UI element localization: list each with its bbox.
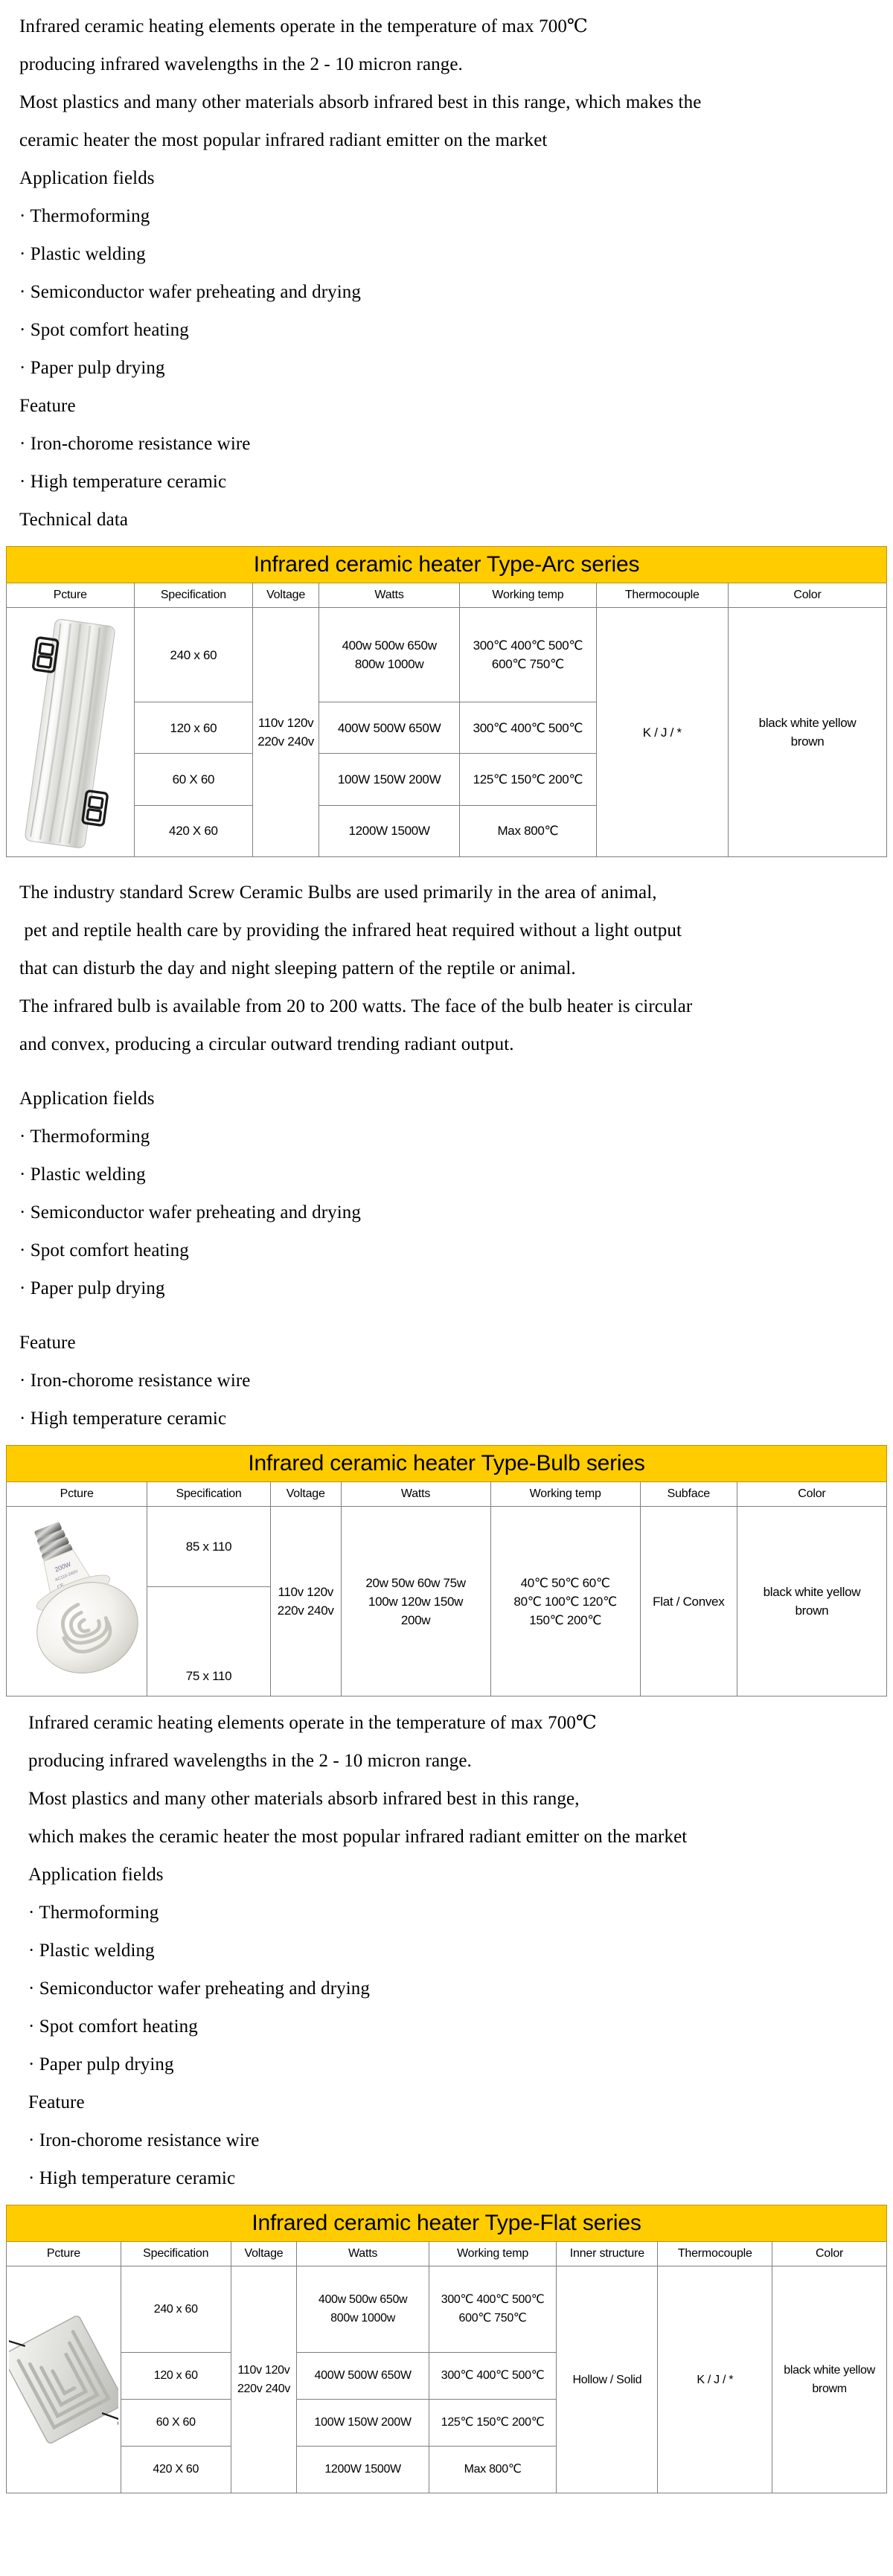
- watts-value: 20w 50w 60w 75w 100w 120w 150w 200w: [341, 1507, 490, 1696]
- paragraph-line: which makes the ceramic heater the most …: [28, 1818, 874, 1856]
- paragraph-line: Infrared ceramic heating elements operat…: [28, 1704, 874, 1742]
- table-bulb: Infrared ceramic heater Type-Bulb series…: [6, 1445, 887, 1696]
- color-value: black white yellow brown: [737, 1507, 886, 1696]
- bulb-heater-picture-cell: 200W AC110-240V CE: [7, 1507, 147, 1696]
- application-item: · Spot comfort heating: [19, 1231, 874, 1269]
- color-value: black white yellow browm: [772, 2266, 887, 2493]
- flat-ceramic-heater-photo: [9, 2268, 118, 2491]
- application-item: · Semiconductor wafer preheating and dry…: [19, 273, 874, 311]
- temp-line: 40℃ 50℃ 60℃: [521, 1576, 610, 1590]
- table-arc-wrapper: Infrared ceramic heater Type-Arc series …: [0, 546, 893, 857]
- spec-value: 85 x 110: [147, 1507, 271, 1587]
- spec-value: 60 X 60: [121, 2399, 231, 2446]
- table-flat-banner: Infrared ceramic heater Type-Flat series: [7, 2205, 887, 2242]
- application-item: · Thermoforming: [19, 1118, 874, 1156]
- table-row: 240 x 60 110v 120v 220v 240v 400w 500w 6…: [7, 608, 887, 702]
- spec-value: 240 x 60: [134, 608, 253, 702]
- table-flat-header-row: Pcture Specification Voltage Watts Worki…: [7, 2242, 887, 2266]
- working-temp-value: 125℃ 150℃ 200℃: [460, 754, 596, 805]
- column-header-voltage: Voltage: [270, 1482, 341, 1507]
- table-bulb-header-row: Pcture Specification Voltage Watts Worki…: [7, 1482, 887, 1507]
- table-arc: Infrared ceramic heater Type-Arc series …: [6, 546, 887, 857]
- column-header-thermocouple: Thermocouple: [658, 2242, 772, 2266]
- column-header-specification: Specification: [134, 583, 253, 608]
- watts-line: 200w: [401, 1613, 430, 1627]
- working-temp-value: 300℃ 400℃ 500℃: [429, 2352, 557, 2399]
- application-item: · Plastic welding: [28, 1932, 874, 1970]
- working-temp-value: 300℃ 400℃ 500℃: [460, 702, 596, 754]
- application-item: · Semiconductor wafer preheating and dry…: [28, 1970, 874, 2008]
- product-spec-page: Infrared ceramic heating elements operat…: [0, 0, 893, 2499]
- column-header-subface: Subface: [640, 1482, 737, 1507]
- paragraph-line: The infrared bulb is available from 20 t…: [19, 987, 874, 1025]
- column-header-pcture: Pcture: [7, 583, 135, 608]
- working-temp-value: 125℃ 150℃ 200℃: [429, 2399, 557, 2446]
- spec-value: 60 X 60: [134, 754, 253, 805]
- ceramic-bulb-heater-photo: 200W AC110-240V CE: [9, 1508, 144, 1694]
- table-bulb-banner: Infrared ceramic heater Type-Bulb series: [7, 1446, 887, 1482]
- feature-heading: Feature: [19, 1324, 874, 1362]
- watts-value: 400w 500w 650w 800w 1000w: [297, 2266, 429, 2353]
- paragraph-line: pet and reptile health care by providing…: [19, 911, 874, 949]
- application-item: · Paper pulp drying: [19, 349, 874, 387]
- watts-value: 400W 500W 650W: [319, 702, 459, 754]
- temp-line: 300℃ 400℃ 500℃: [473, 638, 583, 653]
- feature-item: · Iron-chorome resistance wire: [19, 1362, 874, 1400]
- working-temp-value: 40℃ 50℃ 60℃ 80℃ 100℃ 120℃ 150℃ 200℃: [490, 1507, 640, 1696]
- feature-item: · High temperature ceramic: [19, 1400, 874, 1438]
- temp-line: 150℃ 200℃: [529, 1613, 601, 1627]
- watts-line: 100w 120w 150w: [368, 1595, 463, 1609]
- table-arc-banner: Infrared ceramic heater Type-Arc series: [7, 547, 887, 583]
- application-item: · Plastic welding: [19, 235, 874, 273]
- column-header-inner-structure: Inner structure: [557, 2242, 658, 2266]
- application-item: · Spot comfort heating: [19, 311, 874, 349]
- watts-value: 100W 150W 200W: [319, 754, 459, 805]
- watts-value: 1200W 1500W: [319, 805, 459, 856]
- spec-value: 420 X 60: [134, 805, 253, 856]
- column-header-thermocouple: Thermocouple: [596, 583, 728, 608]
- working-temp-value: Max 800℃: [429, 2446, 557, 2493]
- column-header-color: Color: [772, 2242, 887, 2266]
- application-item: · Thermoforming: [19, 197, 874, 235]
- feature-item: · Iron-chorome resistance wire: [19, 425, 874, 463]
- watts-line: 20w 50w 60w 75w: [365, 1576, 465, 1590]
- table-flat-wrapper: Infrared ceramic heater Type-Flat series…: [0, 2205, 893, 2493]
- column-header-watts: Watts: [297, 2242, 429, 2266]
- feature-item: · Iron-chorome resistance wire: [28, 2121, 874, 2159]
- column-header-working-temp: Working temp: [490, 1482, 640, 1507]
- temp-line: 80℃ 100℃ 120℃: [513, 1595, 616, 1609]
- thermocouple-value: K / J / *: [596, 608, 728, 857]
- watts-value: 400W 500W 650W: [297, 2352, 429, 2399]
- application-item: · Semiconductor wafer preheating and dry…: [19, 1194, 874, 1231]
- spec-value: 240 x 60: [121, 2266, 231, 2353]
- working-temp-value: Max 800℃: [460, 805, 596, 856]
- application-fields-heading: Application fields: [19, 159, 874, 197]
- table-row: 200W AC110-240V CE: [7, 1507, 887, 1587]
- working-temp-value: 300℃ 400℃ 500℃ 600℃ 750℃: [429, 2266, 557, 2353]
- column-header-working-temp: Working temp: [429, 2242, 557, 2266]
- table-bulb-wrapper: Infrared ceramic heater Type-Bulb series…: [0, 1445, 893, 1696]
- feature-item: · High temperature ceramic: [19, 463, 874, 501]
- application-item: · Spot comfort heating: [28, 2008, 874, 2045]
- application-item: · Thermoforming: [28, 1894, 874, 1932]
- feature-heading: Feature: [28, 2083, 874, 2121]
- application-fields-heading: Application fields: [28, 1856, 874, 1894]
- temp-line: 600℃ 750℃: [459, 2312, 527, 2325]
- column-header-voltage: Voltage: [231, 2242, 297, 2266]
- section-3-text: Infrared ceramic heating elements operat…: [0, 1704, 893, 2197]
- paragraph-line: Most plastics and many other materials a…: [28, 1780, 874, 1818]
- feature-item: · High temperature ceramic: [28, 2159, 874, 2197]
- watts-line: 400w 500w 650w: [342, 638, 437, 653]
- watts-value: 100W 150W 200W: [297, 2399, 429, 2446]
- paragraph-line: The industry standard Screw Ceramic Bulb…: [19, 874, 874, 911]
- flat-heater-picture-cell: [7, 2266, 121, 2493]
- paragraph-line: producing infrared wavelengths in the 2 …: [28, 1742, 874, 1780]
- watts-value: 400w 500w 650w 800w 1000w: [319, 608, 459, 702]
- color-value: black white yellow brown: [729, 608, 887, 857]
- section-1-text: Infrared ceramic heating elements operat…: [0, 0, 893, 539]
- watts-line: 800w 1000w: [330, 2312, 395, 2325]
- column-header-voltage: Voltage: [253, 583, 319, 608]
- column-header-watts: Watts: [319, 583, 459, 608]
- application-fields-heading: Application fields: [19, 1080, 874, 1118]
- column-header-color: Color: [729, 583, 887, 608]
- paragraph-line: Most plastics and many other materials a…: [19, 83, 874, 121]
- paragraph-line: and convex, producing a circular outward…: [19, 1025, 874, 1063]
- watts-value: 1200W 1500W: [297, 2446, 429, 2493]
- column-header-specification: Specification: [147, 1482, 271, 1507]
- watts-line: 400w 500w 650w: [319, 2293, 407, 2306]
- column-header-watts: Watts: [341, 1482, 490, 1507]
- application-item: · Paper pulp drying: [19, 1269, 874, 1307]
- arc-ceramic-heater-photo: [9, 609, 132, 855]
- table-arc-header-row: Pcture Specification Voltage Watts Worki…: [7, 583, 887, 608]
- spec-value: 75 x 110: [147, 1587, 271, 1696]
- spec-value: 120 x 60: [134, 702, 253, 754]
- technical-data-heading: Technical data: [19, 501, 874, 539]
- thermocouple-value: K / J / *: [658, 2266, 772, 2493]
- paragraph-line: ceramic heater the most popular infrared…: [19, 121, 874, 159]
- table-row: 240 x 60 110v 120v 220v 240v 400w 500w 6…: [7, 2266, 887, 2353]
- spec-value: 120 x 60: [121, 2352, 231, 2399]
- inner-structure-value: Hollow / Solid: [557, 2266, 658, 2493]
- paragraph-line: producing infrared wavelengths in the 2 …: [19, 45, 874, 83]
- section-2-text: The industry standard Screw Ceramic Bulb…: [0, 874, 893, 1438]
- column-header-color: Color: [737, 1482, 886, 1507]
- paragraph-line: that can disturb the day and night sleep…: [19, 949, 874, 987]
- column-header-working-temp: Working temp: [460, 583, 596, 608]
- feature-heading: Feature: [19, 387, 874, 425]
- arc-heater-picture-cell: [7, 608, 135, 857]
- paragraph-line: Infrared ceramic heating elements operat…: [19, 7, 874, 45]
- working-temp-value: 300℃ 400℃ 500℃ 600℃ 750℃: [460, 608, 596, 702]
- voltage-value: 110v 120v 220v 240v: [270, 1507, 341, 1696]
- spec-value: 420 X 60: [121, 2446, 231, 2493]
- subface-value: Flat / Convex: [640, 1507, 737, 1696]
- column-header-specification: Specification: [121, 2242, 231, 2266]
- column-header-pcture: Pcture: [7, 2242, 121, 2266]
- application-item: · Paper pulp drying: [28, 2045, 874, 2083]
- temp-line: 300℃ 400℃ 500℃: [441, 2293, 545, 2306]
- temp-line: 600℃ 750℃: [492, 657, 564, 671]
- table-flat: Infrared ceramic heater Type-Flat series…: [6, 2205, 887, 2493]
- application-item: · Plastic welding: [19, 1156, 874, 1194]
- column-header-pcture: Pcture: [7, 1482, 147, 1507]
- voltage-value: 110v 120v 220v 240v: [253, 608, 319, 857]
- voltage-value: 110v 120v 220v 240v: [231, 2266, 297, 2493]
- watts-line: 800w 1000w: [355, 657, 423, 671]
